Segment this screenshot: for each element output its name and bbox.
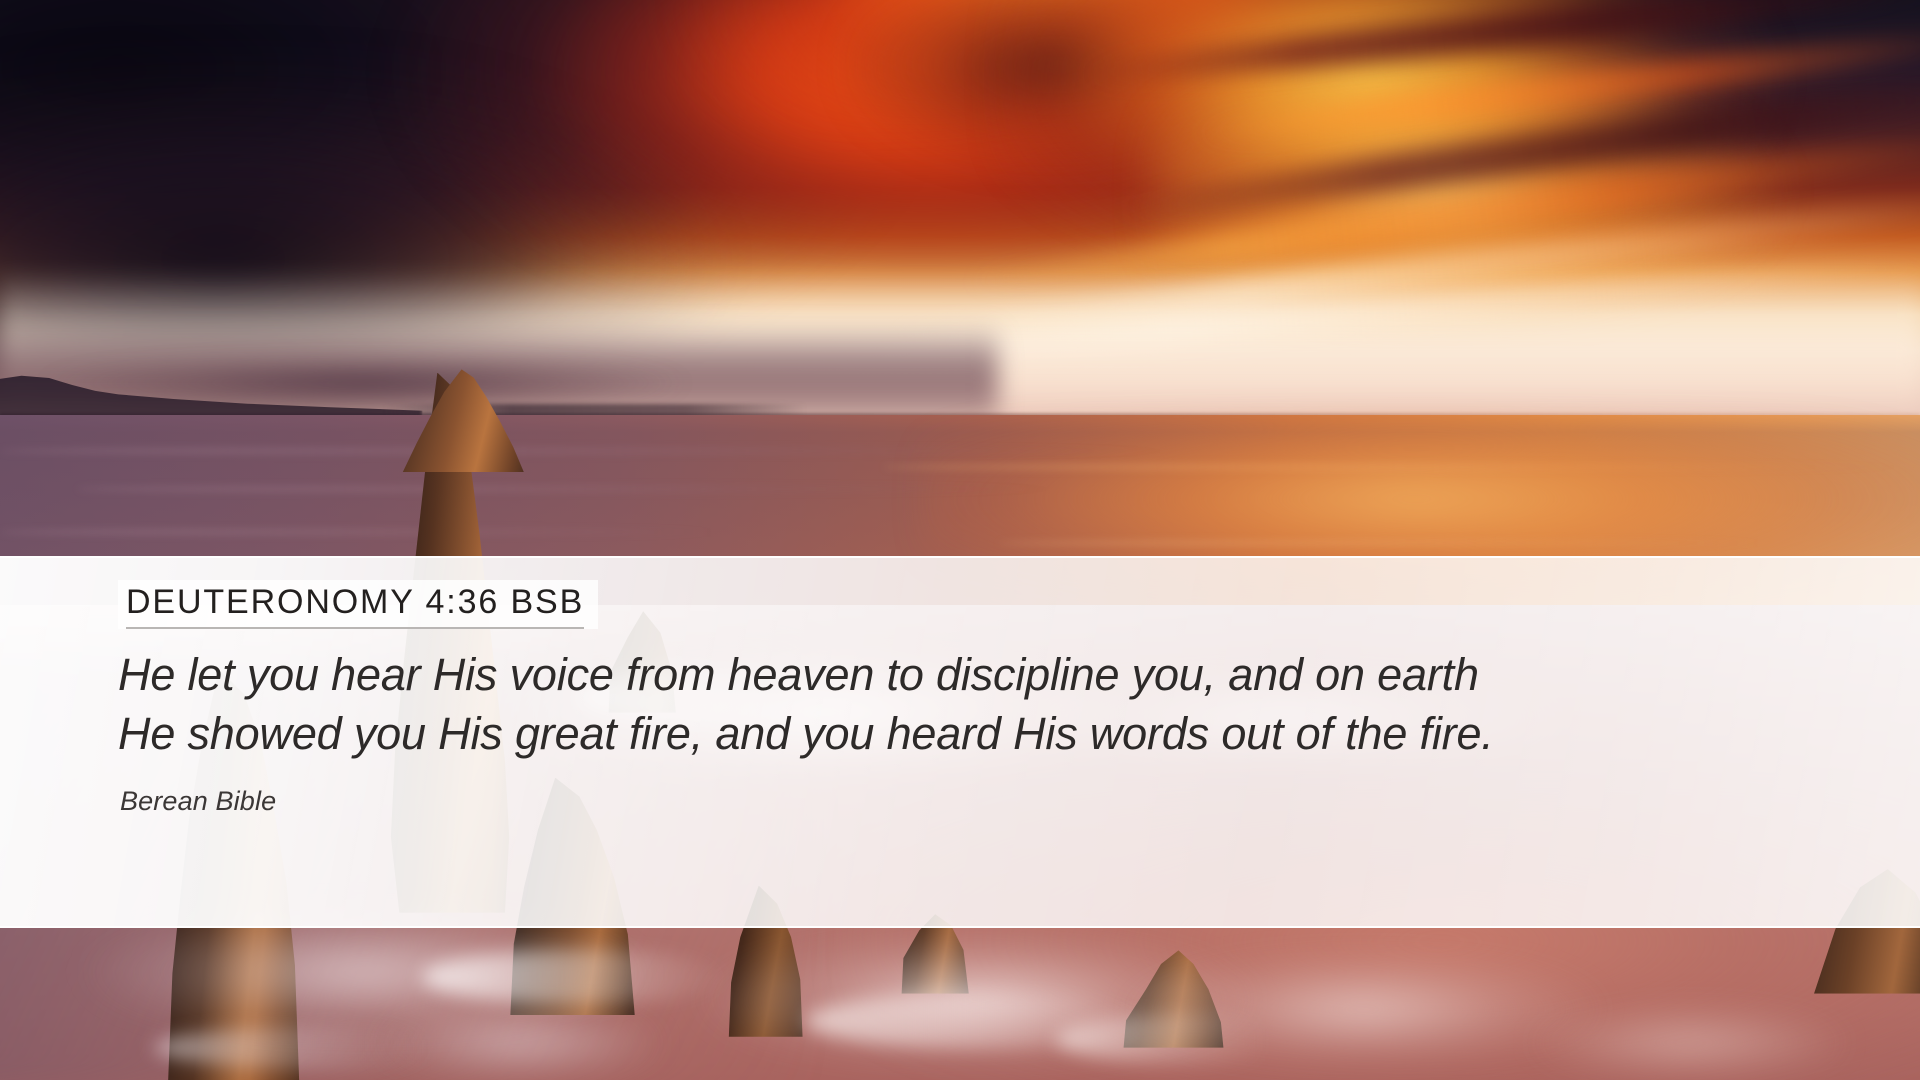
verse-band: Deuteronomy 4:36 BSB He let you hear His… — [0, 556, 1920, 928]
verse-line-1: He let you hear His voice from heaven to… — [118, 646, 1538, 705]
verse-attribution: Berean Bible — [120, 786, 276, 817]
sea-streak-5 — [998, 540, 1920, 546]
wallpaper-canvas: Deuteronomy 4:36 BSB He let you hear His… — [0, 0, 1920, 1080]
surf-foam-1 — [422, 950, 729, 1004]
sea-streak-2 — [77, 486, 1075, 492]
surf-foam-3 — [1056, 1015, 1325, 1064]
reference-badge: Deuteronomy 4:36 BSB — [118, 580, 598, 629]
verse-line-2: He showed you His great fire, and you he… — [118, 705, 1538, 764]
surf-foam-4 — [154, 1026, 500, 1069]
verse-content: Deuteronomy 4:36 BSB He let you hear His… — [118, 558, 1878, 926]
verse-reference: Deuteronomy 4:36 BSB — [126, 582, 584, 629]
verse-text: He let you hear His voice from heaven to… — [118, 646, 1538, 763]
